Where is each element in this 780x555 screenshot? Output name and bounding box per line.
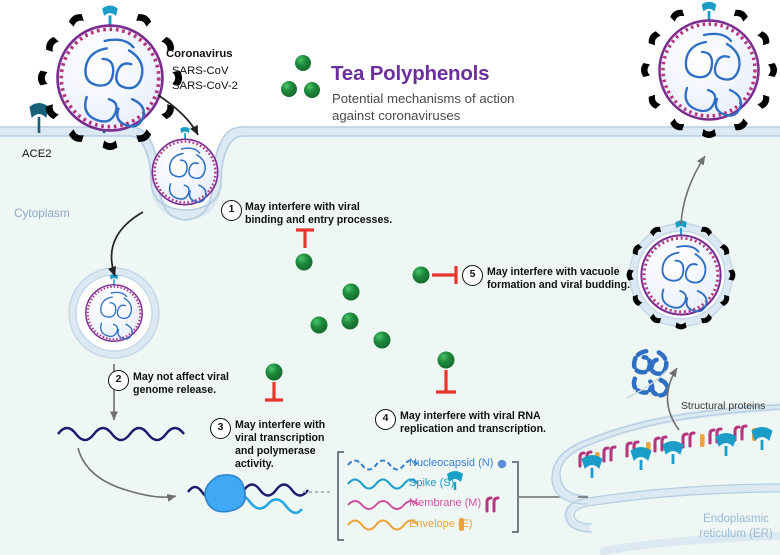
annotation-1-line2: binding and entry processes.	[245, 214, 392, 227]
annotation-3-line1: May interfere with	[235, 419, 325, 432]
coronavirus-strain-2: SARS-CoV-2	[172, 79, 238, 94]
polyphenol-dot	[281, 81, 297, 97]
coronavirus-label-heading: Coronavirus	[166, 48, 233, 60]
polyphenol-dot	[413, 267, 430, 284]
er-label-line2: reticulum (ER)	[688, 527, 780, 542]
polyphenol-dot	[304, 82, 320, 98]
polyphenol-dot	[311, 317, 328, 334]
polyphenol-dot	[266, 364, 283, 381]
annotation-number-5: 5	[462, 265, 483, 286]
coronavirus-strain-1: SARS-CoV	[172, 64, 229, 79]
diagram-canvas: Tea Polyphenols Potential mechanisms of …	[0, 0, 780, 555]
polyphenol-dot	[295, 55, 311, 71]
annotation-5-line1: May interfere with vacuole	[487, 266, 619, 279]
annotation-4-line1: May interfere with viral RNA	[400, 410, 541, 423]
polyphenol-dot	[343, 284, 360, 301]
nucleocapsid-dot-icon	[498, 460, 507, 469]
annotation-number-4: 4	[375, 409, 396, 430]
annotation-5-line2: formation and viral budding.	[487, 279, 630, 292]
polyphenol-dot	[438, 352, 455, 369]
annotation-1-line1: May interfere with viral	[245, 201, 360, 214]
annotation-number-2: 2	[108, 370, 129, 391]
annotation-2-line1: May not affect viral	[133, 371, 229, 384]
polyphenol-dot	[296, 254, 313, 271]
annotation-3-line2: viral transcription	[235, 432, 324, 445]
polymerase-enzyme	[205, 475, 245, 512]
ace2-label: ACE2	[22, 148, 52, 160]
cytoplasm-label: Cytoplasm	[14, 206, 70, 220]
endosome-vesicle	[69, 268, 159, 358]
polyphenol-dot	[374, 332, 391, 349]
annotation-3-line3: and polymerase	[235, 445, 316, 458]
structural-proteins-label: Structural proteins	[681, 401, 765, 412]
page-subtitle-line1: Potential mechanisms of action	[332, 90, 515, 107]
page-title: Tea Polyphenols	[331, 62, 489, 86]
annotation-2-line2: genome release.	[133, 384, 216, 397]
legend-label-nucleocapsid: Nucleocapsid (N)	[409, 457, 493, 469]
annotation-number-3: 3	[210, 418, 231, 439]
er-label-line1: Endoplasmic	[694, 512, 778, 527]
legend-label-envelope: Envelope (E)	[409, 518, 473, 530]
page-subtitle-line2: against coronaviruses	[332, 107, 460, 124]
annotation-4-line2: replication and transcription.	[400, 423, 546, 436]
legend-label-membrane: Membrane (M)	[409, 497, 481, 509]
polyphenol-dot	[342, 313, 359, 330]
annotation-3-line4: activity.	[235, 458, 274, 471]
annotation-number-1: 1	[221, 200, 242, 221]
legend-label-spike: Spike (S)	[409, 477, 454, 489]
coronavirus-particle-entering	[152, 127, 217, 205]
